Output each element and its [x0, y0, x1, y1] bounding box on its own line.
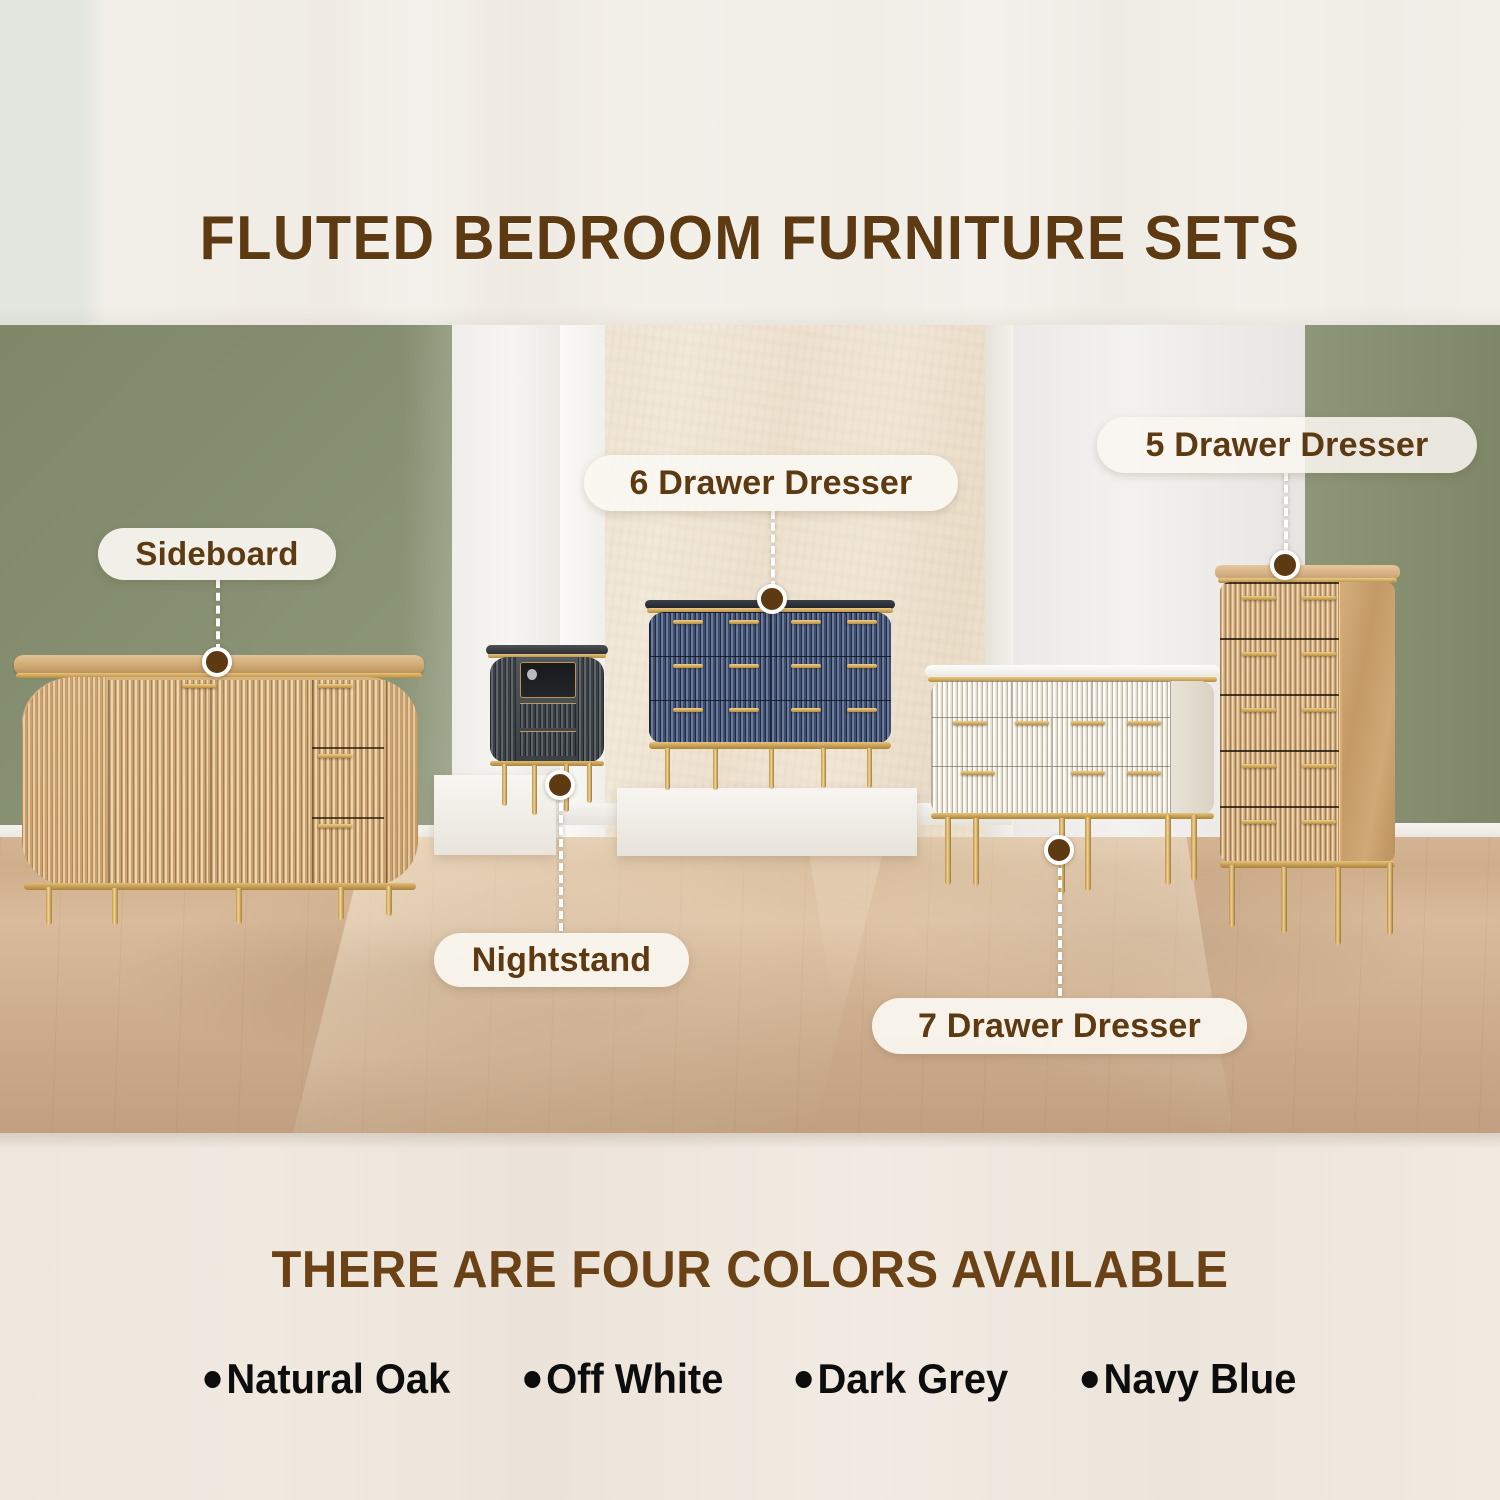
sideboard-leg-4	[338, 887, 344, 920]
dresser6-drawer-5	[649, 700, 770, 744]
nightstand-body	[490, 657, 604, 763]
dresser5-handle-5a	[1242, 820, 1276, 824]
dresser6-handle-6a	[791, 708, 821, 712]
callout-dot-nightstand	[545, 770, 575, 800]
callout-label-dresser-5: 5 Drawer Dresser	[1146, 426, 1429, 465]
sideboard-gold-base-rail	[24, 883, 416, 890]
dresser6-leg-5	[867, 748, 872, 788]
dresser6-drawer-6	[770, 700, 891, 744]
dresser7-leg-5	[1165, 815, 1171, 885]
color-option-off-white[interactable]: Off White	[524, 1355, 723, 1403]
dresser6-drawer-1	[649, 612, 770, 656]
nightstand-display-plinth	[434, 775, 556, 855]
sideboard-drawer-line-2	[312, 817, 384, 819]
color-label-navy-blue: Navy Blue	[1104, 1355, 1297, 1403]
furniture-dresser-5-drawer[interactable]	[1215, 565, 1400, 965]
callout-dot-dresser-5	[1270, 550, 1300, 580]
dresser5-leg-4	[1387, 863, 1393, 935]
page-title: FLUTED BEDROOM FURNITURE SETS	[53, 203, 1448, 274]
color-option-dark-grey[interactable]: Dark Grey	[796, 1355, 1009, 1403]
furniture-sideboard[interactable]	[8, 655, 428, 925]
callout-pill-dresser-7[interactable]: 7 Drawer Dresser	[872, 998, 1247, 1054]
leader-line-dresser-7	[1058, 868, 1062, 996]
sideboard-leg-1	[46, 887, 52, 925]
dresser5-gold-base-rail	[1220, 861, 1395, 868]
callout-dot-sideboard	[202, 647, 232, 677]
dresser7-handle-6	[1071, 771, 1105, 775]
dresser6-handle-1a	[673, 620, 703, 624]
sideboard-body	[22, 677, 418, 887]
nightstand-open-shelf	[520, 662, 576, 698]
sideboard-leg-3	[236, 888, 242, 924]
sideboard-door-2	[210, 680, 310, 884]
dresser5-body	[1220, 582, 1395, 862]
dresser5-leg-3	[1335, 867, 1341, 945]
callout-pill-dresser-6[interactable]: 6 Drawer Dresser	[584, 455, 958, 511]
dresser5-handle-3b	[1302, 708, 1336, 712]
furniture-dresser-6-drawer[interactable]	[645, 600, 895, 800]
header-banner: FLUTED BEDROOM FURNITURE SETS	[0, 0, 1500, 325]
color-label-dark-grey: Dark Grey	[818, 1355, 1009, 1403]
dresser7-handle-1	[953, 721, 987, 725]
dresser6-handle-4a	[791, 664, 821, 668]
dresser6-display-plinth	[617, 788, 917, 856]
dresser5-drawer-4	[1220, 750, 1340, 806]
leader-line-nightstand	[559, 803, 563, 931]
dresser6-handle-1b	[729, 620, 759, 624]
dresser7-leg-2	[973, 818, 979, 886]
dresser6-handle-4b	[847, 664, 877, 668]
dresser5-drawer-5	[1220, 806, 1340, 862]
dresser6-handle-2a	[791, 620, 821, 624]
sideboard-leg-5	[386, 886, 392, 916]
leader-line-dresser-6	[771, 511, 775, 589]
dresser5-drawer-2	[1220, 638, 1340, 694]
sideboard-drawer-stack	[312, 680, 384, 884]
dresser6-body	[649, 612, 891, 744]
dresser5-drawer-1	[1220, 582, 1340, 638]
dresser6-drawer-2	[770, 612, 891, 656]
dresser6-handle-5a	[673, 708, 703, 712]
dresser5-leg-2	[1281, 867, 1287, 933]
bullet-icon	[524, 1371, 540, 1388]
dresser6-gold-base-rail	[649, 742, 891, 749]
nightstand-right-curved-side	[578, 657, 604, 763]
dresser6-handle-3b	[729, 664, 759, 668]
dresser7-handle-3	[1071, 721, 1105, 725]
color-label-natural-oak: Natural Oak	[226, 1355, 450, 1403]
bullet-icon	[796, 1371, 812, 1388]
dresser5-leg-1	[1229, 865, 1235, 927]
sideboard-handle-drawer2	[318, 754, 352, 758]
dresser5-handle-1b	[1302, 596, 1336, 600]
dresser5-top	[1215, 565, 1400, 579]
dresser7-handle-5	[961, 771, 995, 775]
nightstand-leg-4	[587, 763, 592, 803]
dresser7-right-side-panel	[1170, 681, 1214, 815]
dresser6-leg-3	[769, 749, 774, 789]
dresser7-drawer-1	[931, 681, 1011, 717]
dresser6-drawer-3	[649, 656, 770, 700]
dresser7-drawer-2	[1011, 681, 1091, 717]
callout-dot-dresser-6	[757, 584, 787, 614]
dresser7-handle-7	[1127, 771, 1161, 775]
bullet-icon	[204, 1371, 220, 1388]
dresser5-handle-1a	[1242, 596, 1276, 600]
dresser6-handle-2b	[847, 620, 877, 624]
callout-pill-sideboard[interactable]: Sideboard	[98, 528, 336, 580]
nightstand-leg-2	[532, 765, 537, 815]
sideboard-right-curved-end	[386, 677, 418, 887]
dresser5-handle-2a	[1242, 652, 1276, 656]
leader-line-sideboard	[216, 580, 220, 652]
dresser6-leg-2	[713, 749, 718, 790]
sideboard-leg-2	[112, 888, 118, 925]
sideboard-handle-drawer3	[318, 824, 352, 828]
dresser5-drawer-3	[1220, 694, 1340, 750]
colors-panel	[0, 1133, 1500, 1500]
nightstand-drawer-1	[520, 703, 576, 728]
color-option-navy-blue[interactable]: Navy Blue	[1082, 1355, 1297, 1403]
dresser5-handle-4b	[1302, 764, 1336, 768]
sideboard-handle-drawer1	[318, 684, 352, 688]
dresser5-handle-2b	[1302, 652, 1336, 656]
colors-heading: THERE ARE FOUR COLORS AVAILABLE	[45, 1240, 1455, 1300]
callout-label-dresser-6: 6 Drawer Dresser	[630, 464, 913, 503]
sideboard-left-curved-door	[22, 677, 106, 887]
bullet-icon	[1082, 1371, 1098, 1388]
sideboard-drawer-line-1	[312, 747, 384, 749]
dresser5-side-panel	[1340, 582, 1395, 862]
dresser7-leg-6	[1191, 815, 1197, 881]
callout-label-nightstand: Nightstand	[472, 941, 652, 980]
furniture-nightstand[interactable]	[486, 645, 608, 845]
leader-line-dresser-5	[1284, 473, 1288, 551]
callout-pill-dresser-5[interactable]: 5 Drawer Dresser	[1097, 417, 1477, 473]
dresser6-handle-5b	[729, 708, 759, 712]
nightstand-drawer-2	[520, 731, 576, 756]
dresser6-handle-3a	[673, 664, 703, 668]
callout-label-sideboard: Sideboard	[135, 535, 298, 573]
product-scene-photo: Sideboard 6 Drawer Dresser 5 Drawer Dres…	[0, 325, 1500, 1133]
nightstand-left-curved-side	[490, 657, 516, 763]
color-label-off-white: Off White	[546, 1355, 723, 1403]
colors-list: Natural Oak Off White Dark Grey Navy Blu…	[0, 1355, 1500, 1403]
dresser7-body	[931, 681, 1214, 815]
dresser7-leg-1	[945, 817, 951, 885]
dresser5-handle-3a	[1242, 708, 1276, 712]
callout-pill-nightstand[interactable]: Nightstand	[434, 933, 689, 987]
dresser6-handle-6b	[847, 708, 877, 712]
dresser5-handle-5b	[1302, 820, 1336, 824]
dresser6-drawer-4	[770, 656, 891, 700]
dresser7-drawer-3	[1091, 681, 1170, 717]
nightstand-leg-1	[502, 764, 507, 806]
color-option-natural-oak[interactable]: Natural Oak	[204, 1355, 450, 1403]
dresser7-leg-4	[1085, 817, 1091, 891]
callout-dot-dresser-7	[1044, 835, 1074, 865]
dresser7-handle-4	[1127, 721, 1161, 725]
sideboard-door-1	[108, 680, 208, 884]
furniture-dresser-7-drawer[interactable]	[925, 665, 1220, 900]
dresser7-handle-2	[1015, 721, 1049, 725]
dresser6-leg-4	[821, 748, 826, 788]
dresser5-handle-4a	[1242, 764, 1276, 768]
sideboard-handle-door1	[182, 684, 216, 688]
callout-label-dresser-7: 7 Drawer Dresser	[918, 1007, 1201, 1046]
dresser6-leg-1	[665, 748, 670, 790]
